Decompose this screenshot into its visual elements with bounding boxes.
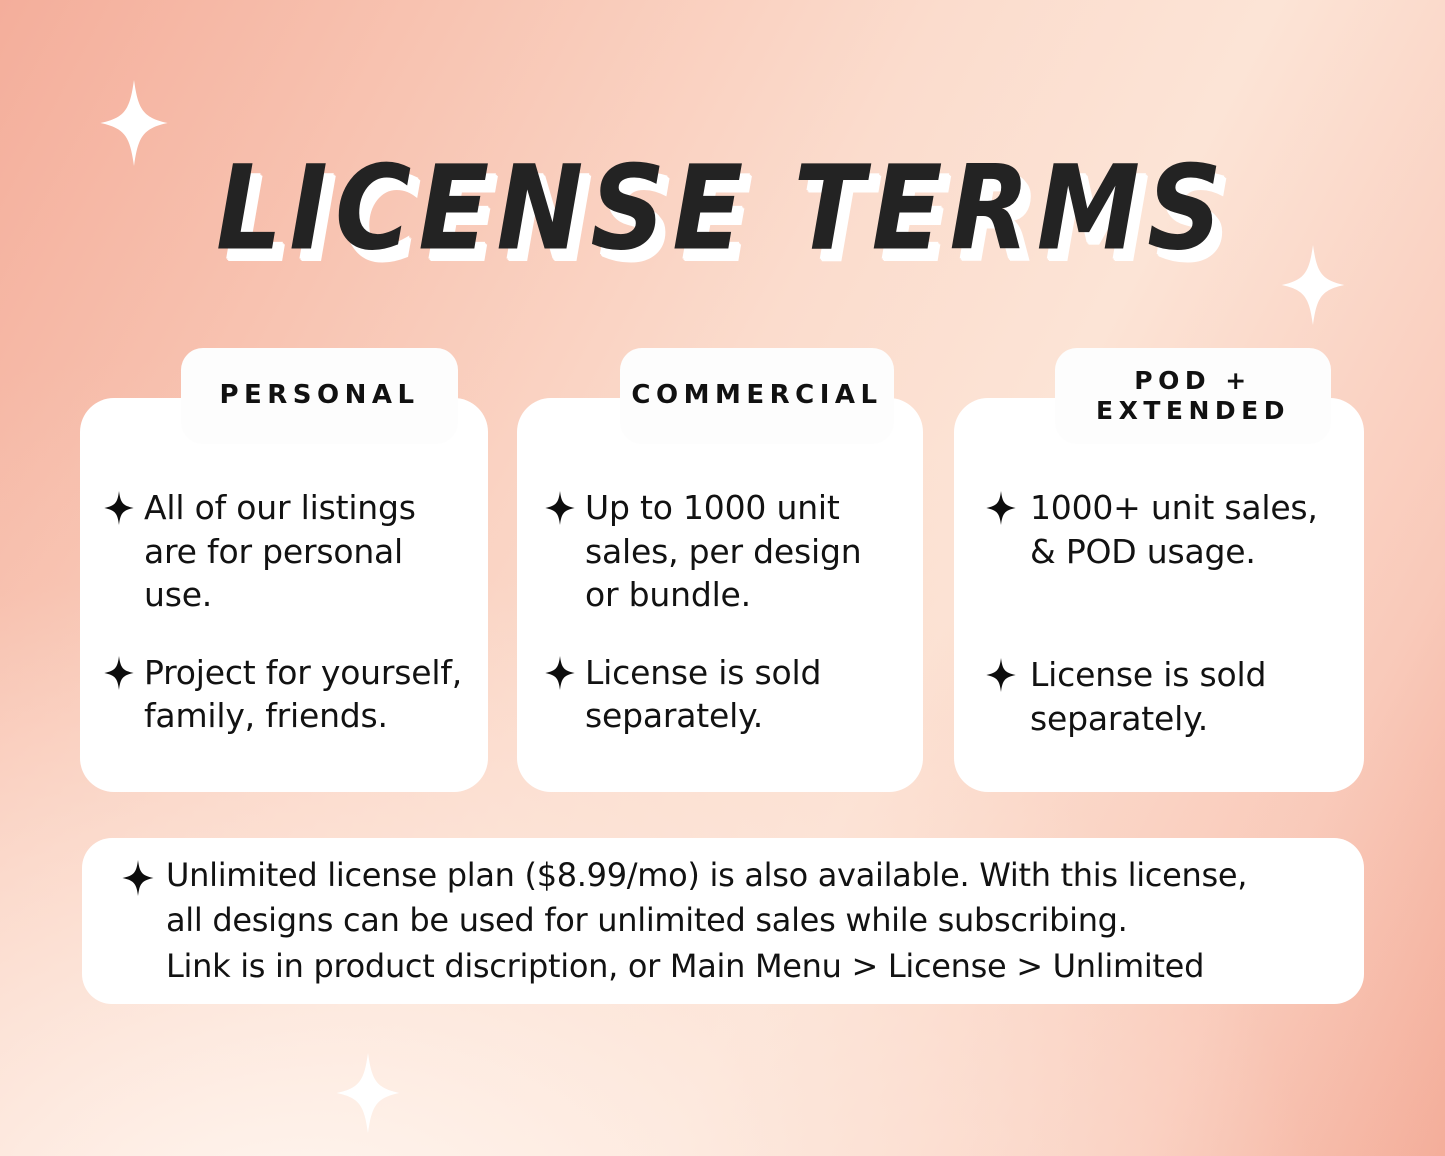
unlimited-plan-text: Unlimited license plan ($8.99/mo) is als… (166, 853, 1247, 989)
tier-card-pod-extended-body: 1000+ unit sales, & POD usage. License i… (954, 398, 1364, 792)
list-item-label: 1000+ unit sales, & POD usage. (1030, 486, 1318, 573)
tier-card-personal-body: All of our listings are for personal use… (80, 398, 488, 792)
sparkle-bullet-icon (104, 491, 134, 525)
tier-header-personal-label: PERSONAL (219, 380, 419, 412)
tier-header-pod-extended: POD + EXTENDED (1055, 348, 1331, 444)
list-item-label: License is sold separately. (1030, 653, 1266, 740)
tier-header-commercial: COMMERCIAL (620, 348, 894, 444)
tier-header-personal: PERSONAL (181, 348, 458, 444)
tier-header-pod-extended-label: POD + EXTENDED (1096, 366, 1290, 427)
list-item: Up to 1000 unit sales, per design or bun… (545, 486, 901, 617)
license-terms-graphic: LICENSE TERMS All of our listings are fo… (0, 0, 1445, 1156)
list-item-label: Up to 1000 unit sales, per design or bun… (585, 486, 861, 617)
list-item: Project for yourself, family, friends. (104, 651, 466, 738)
tier-card-pod-extended-bullets: 1000+ unit sales, & POD usage. License i… (986, 486, 1342, 740)
sparkle-bullet-icon (986, 658, 1016, 692)
tier-card-pod-extended: 1000+ unit sales, & POD usage. License i… (954, 398, 1364, 792)
sparkle-bullet-icon (122, 860, 154, 896)
tier-header-commercial-label: COMMERCIAL (631, 380, 882, 412)
list-item-label: All of our listings are for personal use… (144, 486, 416, 617)
list-item: All of our listings are for personal use… (104, 486, 466, 617)
list-item: License is sold separately. (986, 653, 1342, 740)
unlimited-plan-banner: Unlimited license plan ($8.99/mo) is als… (82, 838, 1364, 1004)
list-item: Unlimited license plan ($8.99/mo) is als… (122, 853, 1247, 989)
sparkle-bullet-icon (986, 491, 1016, 525)
tier-card-commercial-bullets: Up to 1000 unit sales, per design or bun… (545, 486, 901, 738)
list-item-label: Project for yourself, family, friends. (144, 651, 462, 738)
list-item-label: License is sold separately. (585, 651, 821, 738)
tier-card-personal: All of our listings are for personal use… (80, 398, 488, 792)
list-item: 1000+ unit sales, & POD usage. (986, 486, 1342, 573)
sparkle-bullet-icon (545, 491, 575, 525)
tier-card-commercial-body: Up to 1000 unit sales, per design or bun… (517, 398, 923, 792)
list-item: License is sold separately. (545, 651, 901, 738)
tier-card-personal-bullets: All of our listings are for personal use… (104, 486, 466, 738)
sparkle-bullet-icon (545, 656, 575, 690)
sparkle-bullet-icon (104, 656, 134, 690)
tier-card-commercial: Up to 1000 unit sales, per design or bun… (517, 398, 923, 792)
